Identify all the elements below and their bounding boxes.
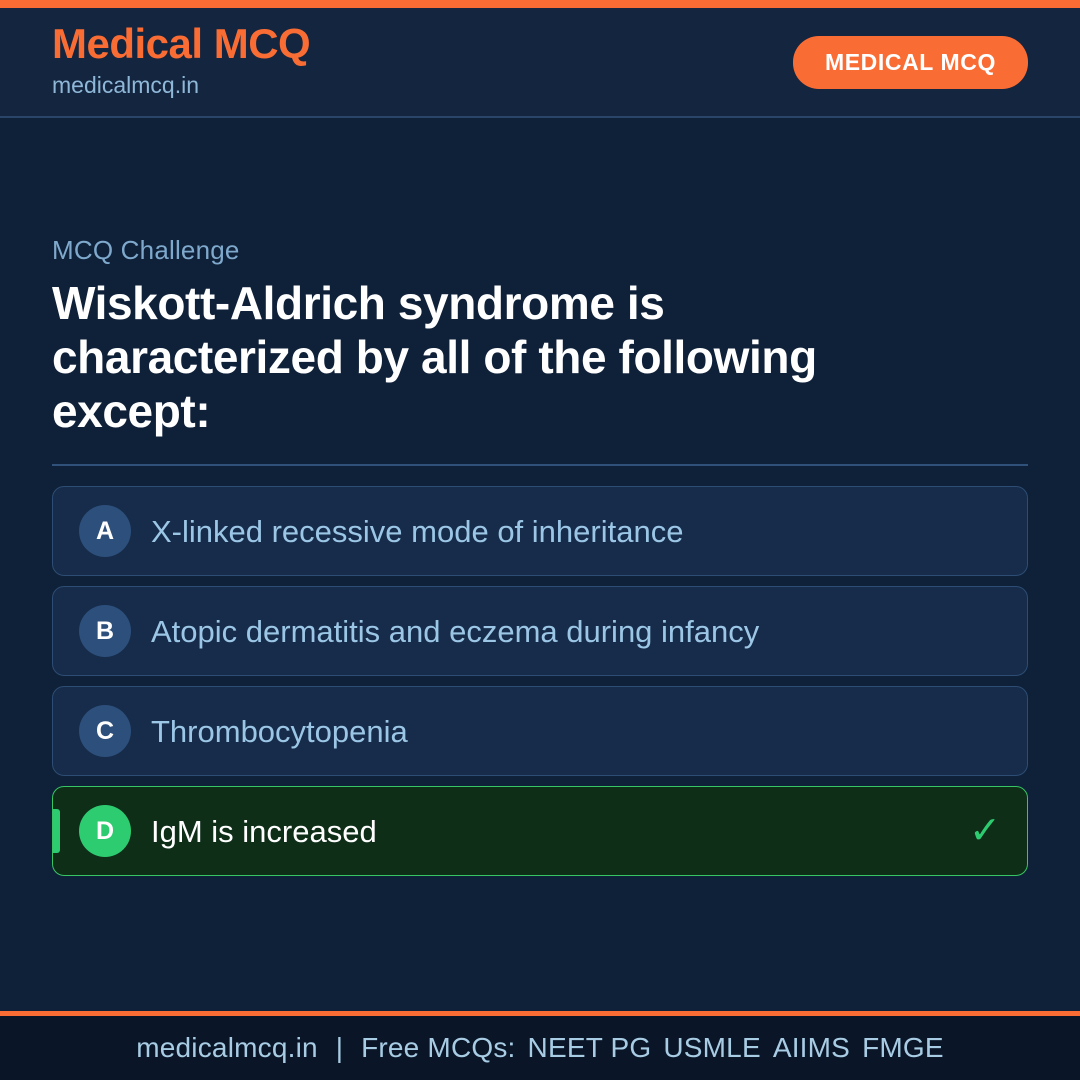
footer-exam-aiims: AIIMS xyxy=(773,1032,862,1063)
option-label: X-linked recessive mode of inheritance xyxy=(151,513,953,550)
option-row-a[interactable]: A X-linked recessive mode of inheritance… xyxy=(52,486,1028,576)
correct-accent-bar xyxy=(53,809,60,853)
option-row-d[interactable]: D IgM is increased ✓ xyxy=(52,786,1028,876)
section-divider xyxy=(52,464,1028,466)
brand-block: Medical MCQ medicalmcq.in xyxy=(52,22,310,103)
eyebrow-label: MCQ Challenge xyxy=(52,235,1028,266)
options-list: A X-linked recessive mode of inheritance… xyxy=(52,486,1028,876)
option-letter-badge: D xyxy=(79,805,131,857)
option-row-b[interactable]: B Atopic dermatitis and eczema during in… xyxy=(52,586,1028,676)
page-title: Wiskott-Aldrich syndrome is characterize… xyxy=(52,276,932,439)
footer-exam-usmle: USMLE xyxy=(663,1032,772,1063)
footer-exam-neet-pg: NEET PG xyxy=(528,1032,664,1063)
option-label: IgM is increased xyxy=(151,813,953,850)
option-letter-badge: C xyxy=(79,705,131,757)
check-icon: ✓ xyxy=(969,812,1001,850)
header-badge: MEDICAL MCQ xyxy=(793,36,1028,89)
page-header: Medical MCQ medicalmcq.in MEDICAL MCQ xyxy=(0,8,1080,118)
footer-exam-list: NEET PGUSMLEAIIMSFMGE xyxy=(528,1032,944,1064)
option-row-c[interactable]: C Thrombocytopenia ✓ xyxy=(52,686,1028,776)
brand-title: Medical MCQ xyxy=(52,22,310,66)
footer-site: medicalmcq.in xyxy=(136,1032,318,1064)
option-letter-badge: A xyxy=(79,505,131,557)
footer-exam-fmge: FMGE xyxy=(862,1032,944,1063)
top-accent-bar xyxy=(0,0,1080,8)
question-block: MCQ Challenge Wiskott-Aldrich syndrome i… xyxy=(52,235,1028,877)
footer-separator: | xyxy=(318,1032,361,1064)
main-content: MCQ Challenge Wiskott-Aldrich syndrome i… xyxy=(0,118,1080,1011)
footer-label: Free MCQs: xyxy=(361,1032,527,1064)
page-footer: medicalmcq.in | Free MCQs: NEET PGUSMLEA… xyxy=(0,1011,1080,1080)
brand-subtitle: medicalmcq.in xyxy=(52,68,310,103)
option-label: Thrombocytopenia xyxy=(151,713,953,750)
mcq-card-page: Medical MCQ medicalmcq.in MEDICAL MCQ MC… xyxy=(0,0,1080,1080)
option-letter-badge: B xyxy=(79,605,131,657)
option-label: Atopic dermatitis and eczema during infa… xyxy=(151,613,953,650)
